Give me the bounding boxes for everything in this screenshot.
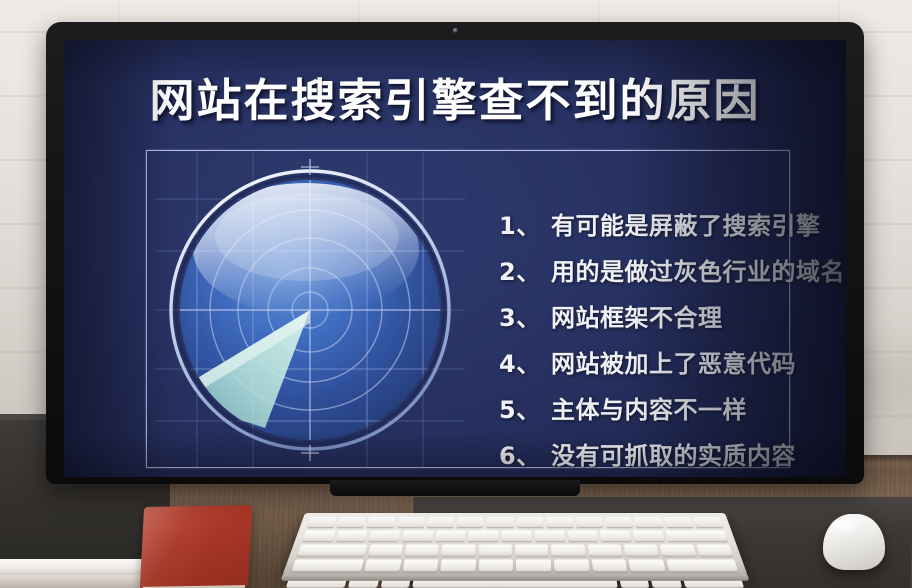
keyboard-key[interactable] xyxy=(515,545,549,557)
keyboard-key[interactable] xyxy=(441,545,475,557)
list-item: 5、 主体与内容不一样 xyxy=(499,387,799,433)
keyboard-key[interactable] xyxy=(440,559,476,572)
keyboard-key[interactable] xyxy=(632,531,664,542)
list-item: 6、 没有可抓取的实质内容 xyxy=(499,433,799,477)
keyboard-key[interactable] xyxy=(468,531,498,542)
list-item: 1、 有可能是屏蔽了搜索引擎 xyxy=(499,203,799,249)
page-title: 网站在搜索引擎查不到的原因 xyxy=(64,78,846,123)
webcam-icon xyxy=(453,28,458,33)
keyboard-key[interactable] xyxy=(402,531,434,542)
list-item-label: 网站被加上了恶意代码 xyxy=(551,341,796,387)
list-item-number: 1、 xyxy=(499,203,551,249)
keyboard-key[interactable] xyxy=(567,531,598,542)
keyboard-key[interactable] xyxy=(487,517,514,528)
monitor-screen: 网站在搜索引擎查不到的原因 xyxy=(64,40,846,477)
keyboard-key[interactable] xyxy=(693,517,723,528)
keyboard-key[interactable] xyxy=(554,559,590,572)
monitor: 网站在搜索引擎查不到的原因 xyxy=(46,22,864,484)
keyboard-row-top xyxy=(297,545,734,557)
keyboard-rows xyxy=(292,517,738,570)
keyboard-key[interactable] xyxy=(534,531,564,542)
keyboard-key[interactable] xyxy=(427,517,455,528)
keyboard-row-numbers xyxy=(302,531,728,542)
list-item: 2、 用的是做过灰色行业的域名 xyxy=(499,249,799,295)
keyboard-key[interactable] xyxy=(501,531,531,542)
keyboard-key[interactable] xyxy=(600,531,632,542)
keyboard-key[interactable] xyxy=(302,531,336,542)
list-item-label: 用的是做过灰色行业的域名 xyxy=(551,249,845,295)
keyboard-key[interactable] xyxy=(517,559,552,572)
keyboard-key[interactable] xyxy=(307,517,337,528)
reason-list: 1、 有可能是屏蔽了搜索引擎 2、 用的是做过灰色行业的域名 3、 网站框架不合… xyxy=(499,203,799,477)
list-item-number: 6、 xyxy=(499,433,551,477)
keyboard-key[interactable] xyxy=(629,559,666,572)
notebook-sheen xyxy=(140,505,252,588)
keyboard-row-function xyxy=(307,517,723,528)
list-item-number: 4、 xyxy=(499,341,551,387)
screenshot-stage: 网站在搜索引擎查不到的原因 xyxy=(0,0,912,588)
keyboard-key[interactable] xyxy=(367,517,396,528)
mouse-highlight xyxy=(832,519,862,531)
content-frame: 1、 有可能是屏蔽了搜索引擎 2、 用的是做过灰色行业的域名 3、 网站框架不合… xyxy=(146,150,790,468)
list-item-number: 2、 xyxy=(499,249,551,295)
keyboard[interactable] xyxy=(282,513,748,576)
monitor-foot xyxy=(330,480,580,496)
keyboard-key[interactable] xyxy=(591,559,627,572)
list-item-number: 5、 xyxy=(499,387,551,433)
keyboard-key[interactable] xyxy=(337,517,367,528)
keyboard-key[interactable] xyxy=(605,517,634,528)
keyboard-key[interactable] xyxy=(517,517,544,528)
list-item-label: 没有可抓取的实质内容 xyxy=(551,433,796,477)
keyboard-key-capslock[interactable] xyxy=(291,559,364,572)
keyboard-key[interactable] xyxy=(368,531,400,542)
keyboard-key[interactable] xyxy=(664,517,694,528)
keyboard-key[interactable] xyxy=(551,545,585,557)
keyboard-front-edge xyxy=(280,575,749,581)
keyboard-key[interactable] xyxy=(478,545,512,557)
keyboard-key[interactable] xyxy=(364,559,401,572)
keyboard-key[interactable] xyxy=(660,545,697,557)
keyboard-key[interactable] xyxy=(335,531,368,542)
keyboard-key[interactable] xyxy=(624,545,660,557)
keyboard-key[interactable] xyxy=(367,545,403,557)
list-item-number: 3、 xyxy=(499,295,551,341)
radar-sphere-graphic xyxy=(155,153,465,467)
list-item-label: 主体与内容不一样 xyxy=(551,387,747,433)
keyboard-key[interactable] xyxy=(397,517,426,528)
keyboard-key[interactable] xyxy=(435,531,466,542)
keyboard-key[interactable] xyxy=(546,517,573,528)
keyboard-key[interactable] xyxy=(402,559,438,572)
keyboard-key-backspace[interactable] xyxy=(665,531,728,542)
list-item: 3、 网站框架不合理 xyxy=(499,295,799,341)
keyboard-row-home xyxy=(291,559,738,572)
keyboard-key[interactable] xyxy=(479,559,514,572)
keyboard-key-tab[interactable] xyxy=(297,545,367,557)
list-item: 4、 网站被加上了恶意代码 xyxy=(499,341,799,387)
keyboard-key-enter[interactable] xyxy=(666,559,739,572)
keyboard-key[interactable] xyxy=(575,517,603,528)
keyboard-key[interactable] xyxy=(457,517,484,528)
list-item-label: 有可能是屏蔽了搜索引擎 xyxy=(551,203,821,249)
keyboard-key[interactable] xyxy=(696,545,733,557)
keyboard-key[interactable] xyxy=(634,517,663,528)
keyboard-key[interactable] xyxy=(404,545,439,557)
list-item-label: 网站框架不合理 xyxy=(551,295,723,341)
mouse[interactable] xyxy=(823,514,885,570)
keyboard-key[interactable] xyxy=(587,545,622,557)
red-notebook xyxy=(140,505,252,588)
